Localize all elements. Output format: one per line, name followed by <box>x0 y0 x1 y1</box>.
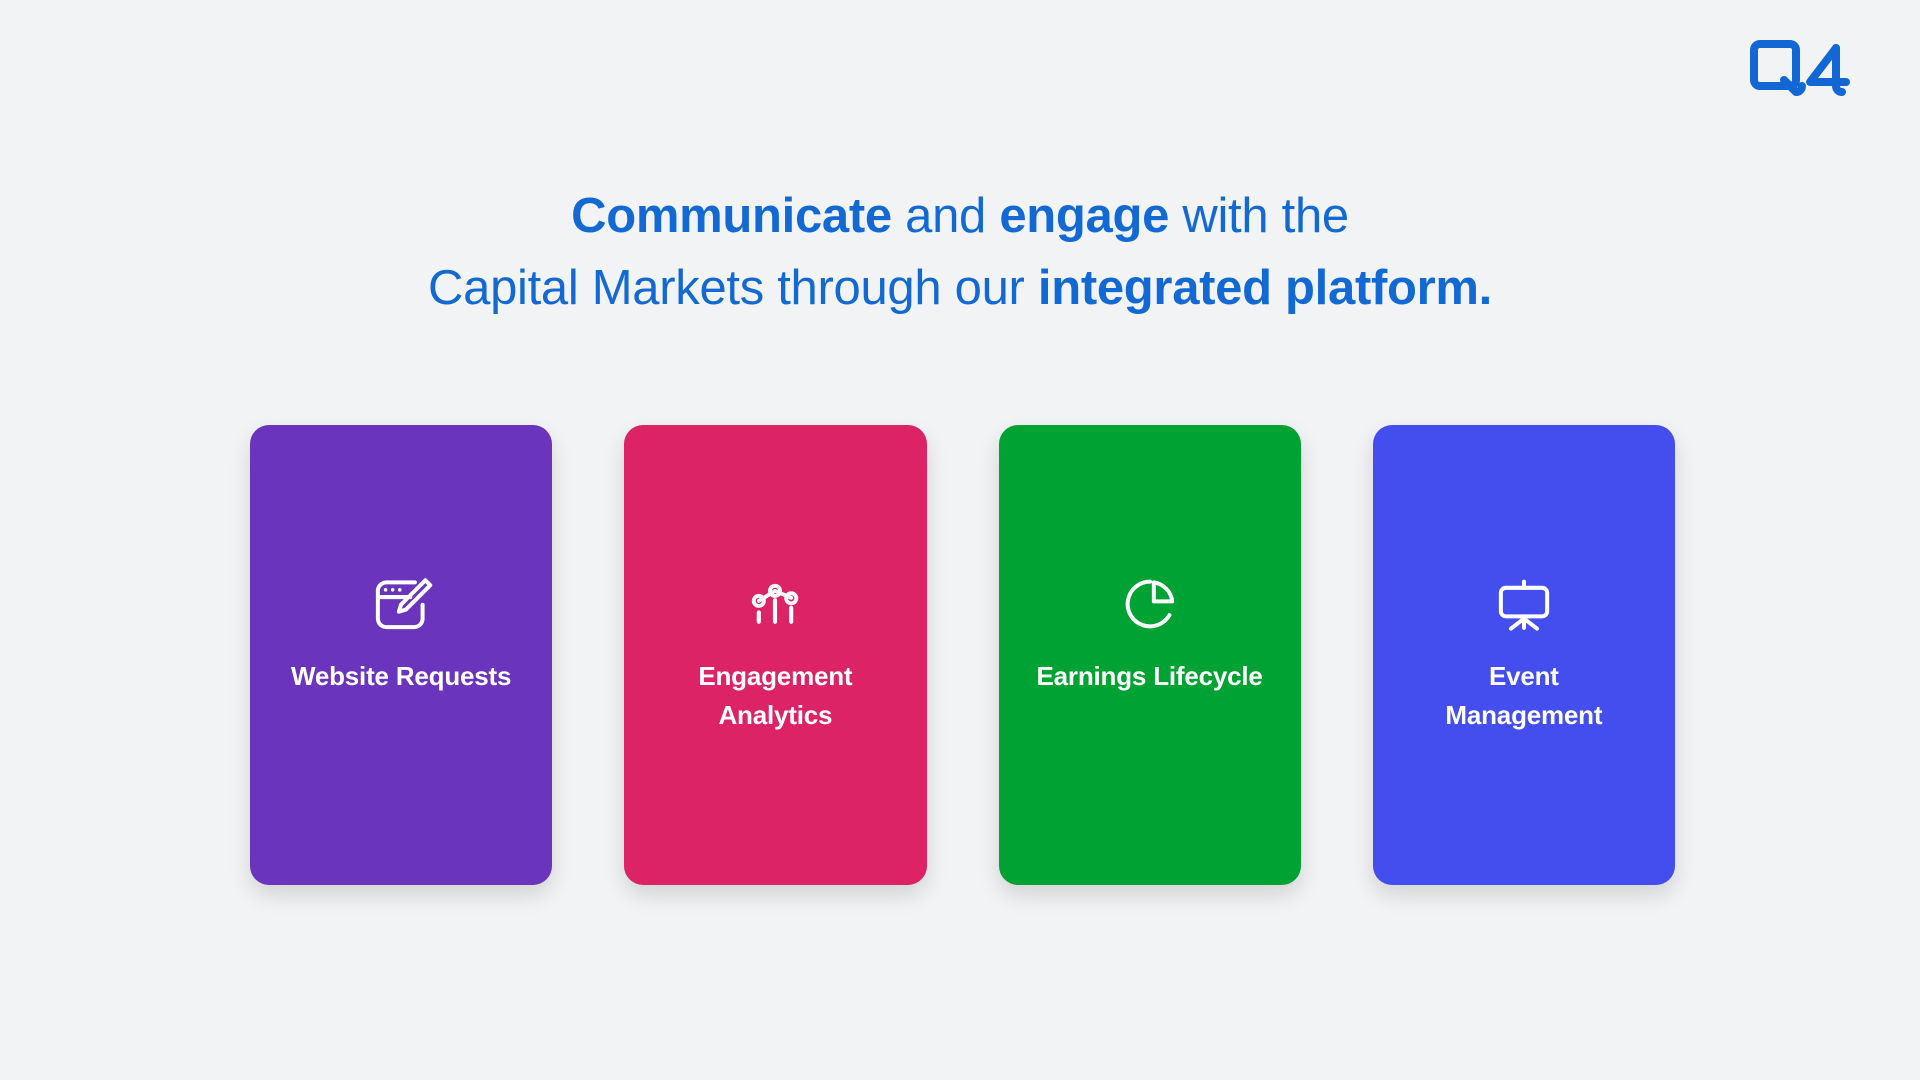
slide-canvas: Communicate and engage with the Capital … <box>0 0 1920 1080</box>
feature-card-label: Engagement Analytics <box>675 657 875 735</box>
feature-card-event-management[interactable]: Event Management <box>1373 425 1675 885</box>
q4-logo <box>1750 40 1862 102</box>
q-letter-shape <box>1754 44 1796 86</box>
feature-card-engagement-analytics[interactable]: Engagement Analytics <box>624 425 926 885</box>
page-headline: Communicate and engage with the Capital … <box>0 180 1920 324</box>
line-chart-icon <box>738 567 812 641</box>
headline-line-2: Capital Markets through our integrated p… <box>0 252 1920 324</box>
feature-card-row: Website Requests Engagement Ana <box>250 425 1675 885</box>
headline-text-and: and <box>892 189 999 243</box>
four-letter-shape <box>1810 48 1846 82</box>
presentation-board-icon <box>1487 567 1561 641</box>
headline-word-communicate: Communicate <box>571 189 892 243</box>
headline-text-capital-markets: Capital Markets through our <box>428 261 1038 315</box>
website-edit-icon <box>364 567 438 641</box>
feature-card-label: Website Requests <box>291 657 511 696</box>
pie-chart-icon <box>1113 567 1187 641</box>
feature-card-label: Event Management <box>1424 657 1624 735</box>
headline-word-engage: engage <box>999 189 1169 243</box>
feature-card-earnings-lifecycle[interactable]: Earnings Lifecycle <box>999 425 1301 885</box>
headline-line-1: Communicate and engage with the <box>0 180 1920 252</box>
feature-card-website-requests[interactable]: Website Requests <box>250 425 552 885</box>
feature-card-label: Earnings Lifecycle <box>1037 657 1263 696</box>
headline-words-integrated-platform: integrated platform. <box>1038 261 1492 315</box>
headline-text-with-the: with the <box>1169 189 1349 243</box>
